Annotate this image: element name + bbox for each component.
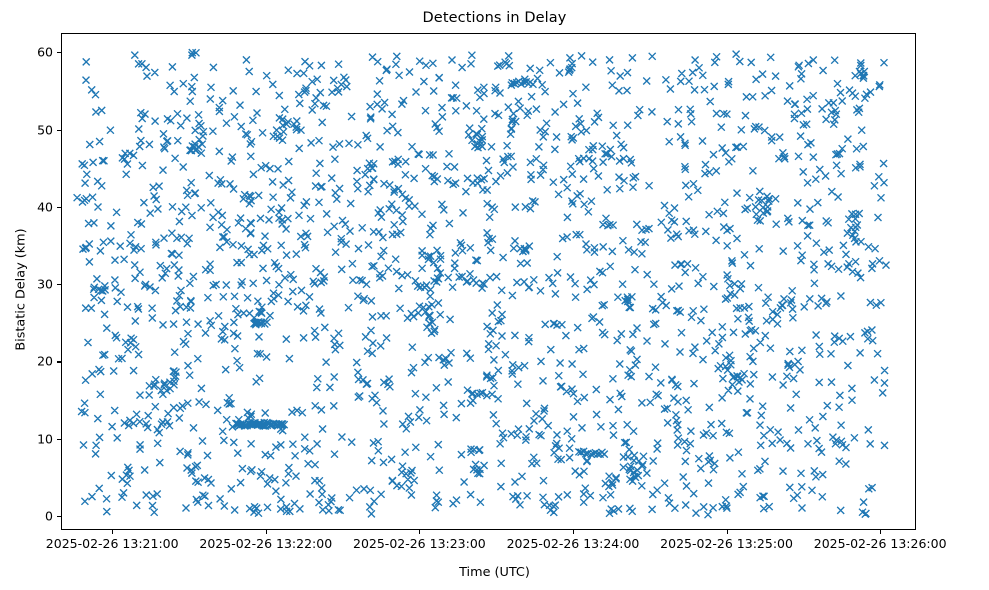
- x-tick-label: 2025-02-26 13:24:00: [507, 536, 640, 551]
- x-axis-title: Time (UTC): [0, 565, 989, 580]
- x-tick-label: 2025-02-26 13:23:00: [353, 536, 486, 551]
- x-tick-mark: [573, 530, 574, 534]
- y-tick-mark: [57, 207, 61, 208]
- y-tick-mark: [57, 516, 61, 517]
- y-tick-label: 60: [13, 45, 53, 60]
- scatter-plot-canvas: [62, 34, 916, 530]
- y-axis-title: Bistatic Delay (km): [14, 165, 29, 415]
- y-tick-label: 10: [13, 431, 53, 446]
- y-tick-mark: [57, 130, 61, 131]
- x-tick-label: 2025-02-26 13:22:00: [199, 536, 332, 551]
- y-tick-mark: [57, 284, 61, 285]
- scatter-series: [74, 49, 890, 518]
- plot-axes: [61, 33, 916, 530]
- y-tick-mark: [57, 439, 61, 440]
- y-tick-mark: [57, 52, 61, 53]
- y-tick-label: 0: [13, 509, 53, 524]
- y-tick-label: 50: [13, 122, 53, 137]
- scatter-markers: [74, 49, 890, 518]
- x-tick-label: 2025-02-26 13:21:00: [46, 536, 179, 551]
- x-tick-mark: [266, 530, 267, 534]
- matplotlib-figure: Detections in Delay 0102030405060 2025-0…: [0, 0, 989, 590]
- x-tick-mark: [419, 530, 420, 534]
- x-tick-mark: [880, 530, 881, 534]
- x-tick-label: 2025-02-26 13:26:00: [814, 536, 947, 551]
- x-tick-mark: [727, 530, 728, 534]
- page-title: Detections in Delay: [0, 10, 989, 26]
- x-tick-mark: [112, 530, 113, 534]
- x-tick-label: 2025-02-26 13:25:00: [660, 536, 793, 551]
- y-tick-mark: [57, 361, 61, 362]
